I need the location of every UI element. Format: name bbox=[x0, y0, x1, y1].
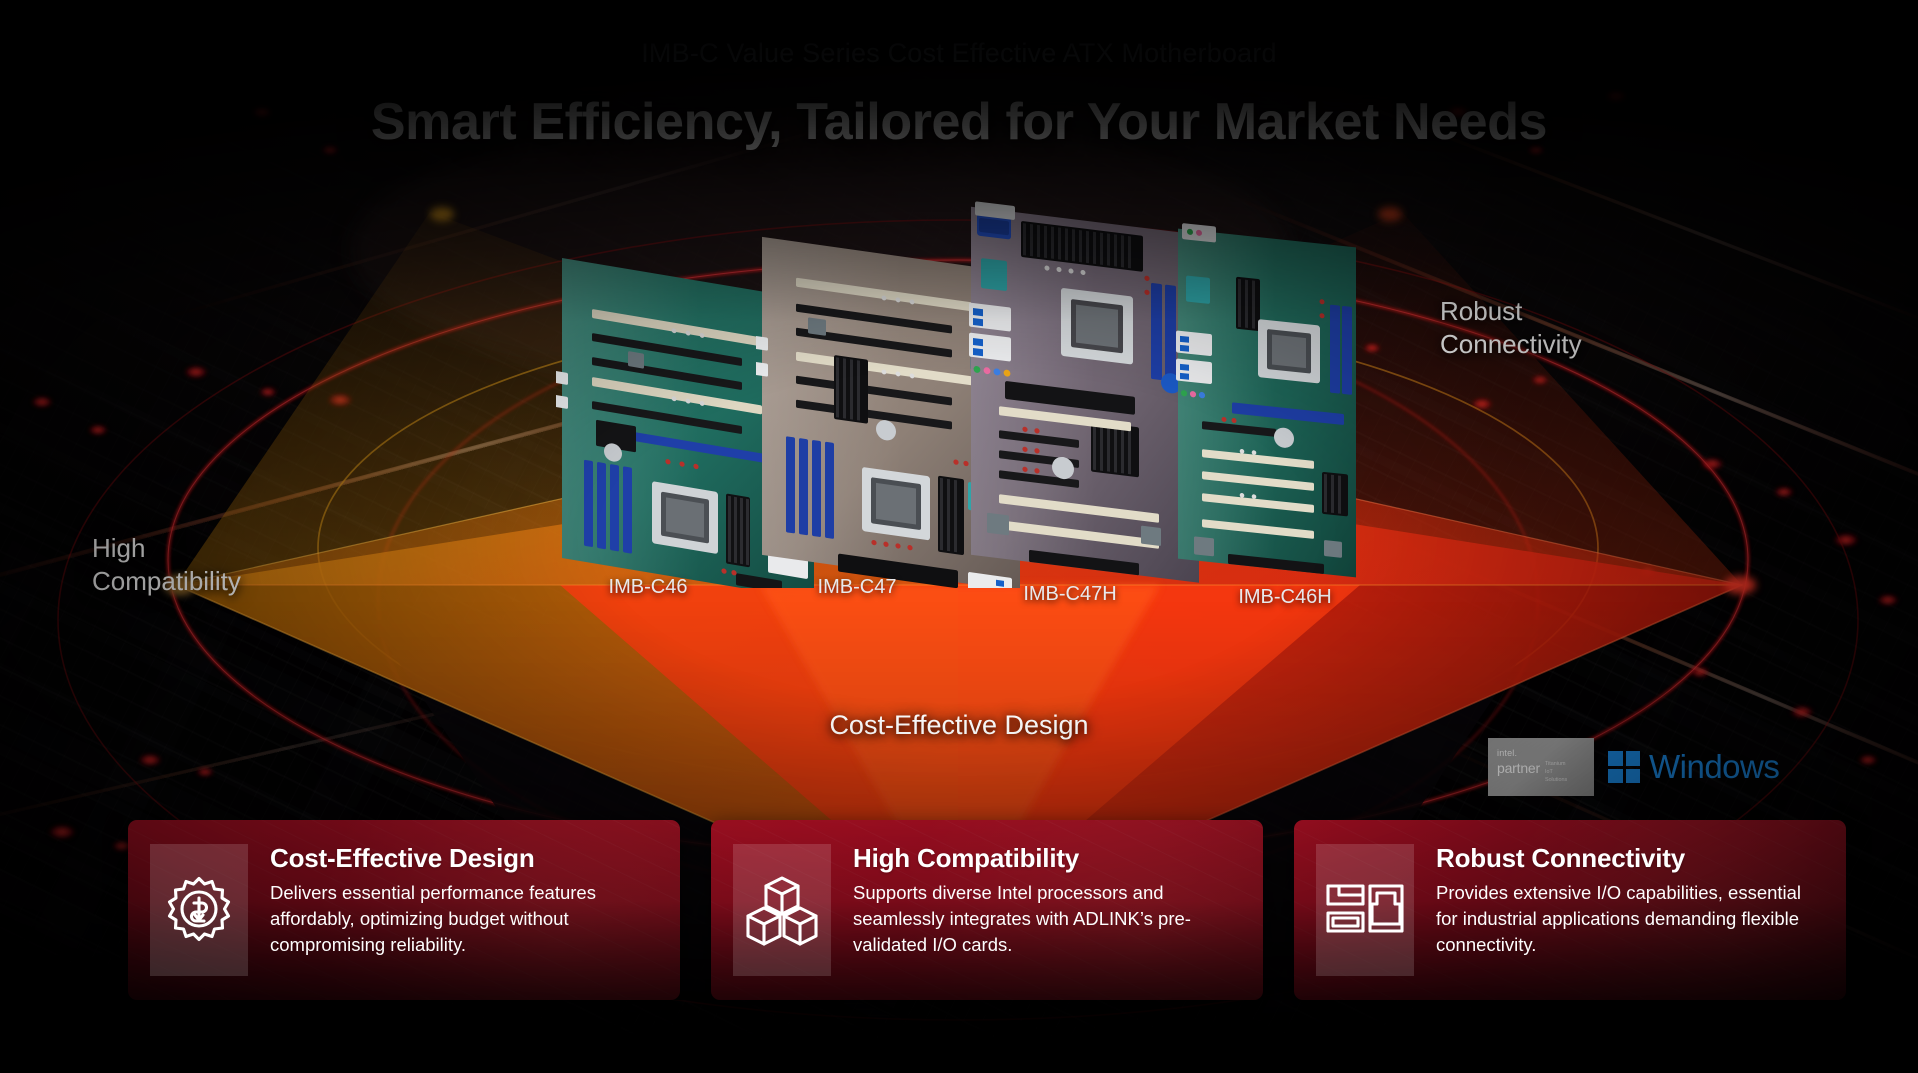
feature-card-description: Supports diverse Intel processors and se… bbox=[853, 880, 1241, 959]
intel-brand-text: intel. bbox=[1497, 749, 1594, 758]
intel-tier-line-3: Solutions bbox=[1545, 777, 1567, 785]
windows-label: Windows bbox=[1649, 748, 1779, 786]
feature-card-description: Provides extensive I/O capabilities, ess… bbox=[1436, 880, 1824, 959]
io-ports-icon bbox=[1316, 844, 1414, 976]
feature-card-description: Delivers essential performance features … bbox=[270, 880, 658, 959]
slide-canvas: IMB-C Value Series Cost Effective ATX Mo… bbox=[0, 0, 1918, 1073]
diagram-label-robust-connectivity: Robust Connectivity bbox=[1440, 295, 1582, 362]
stacked-cubes-icon bbox=[733, 844, 831, 976]
windows-logo: Windows bbox=[1608, 748, 1779, 786]
product-label-1: IMB-C47 bbox=[818, 576, 897, 599]
feature-card-high-compatibility[interactable]: High Compatibility Supports diverse Inte… bbox=[711, 820, 1263, 1000]
feature-card-title: Robust Connectivity bbox=[1436, 844, 1824, 874]
feature-card-title: Cost-Effective Design bbox=[270, 844, 658, 874]
feature-card-title: High Compatibility bbox=[853, 844, 1241, 874]
feature-cards: Cost-Effective Design Delivers essential… bbox=[128, 820, 1846, 1000]
product-label-2: IMB-C47H bbox=[1023, 583, 1116, 606]
feature-card-cost-effective-design[interactable]: Cost-Effective Design Delivers essential… bbox=[128, 820, 680, 1000]
product-label-0: IMB-C46 bbox=[609, 576, 688, 599]
intel-tier-line-1: Titanium bbox=[1545, 761, 1567, 769]
intel-tier-line-2: IoT bbox=[1545, 769, 1567, 777]
partner-logos: intel. partner Titanium IoT Solutions Wi… bbox=[1488, 738, 1779, 796]
intel-partner-logo: intel. partner Titanium IoT Solutions bbox=[1488, 738, 1594, 796]
windows-grid-icon bbox=[1608, 751, 1640, 783]
product-label-3: IMB-C46H bbox=[1238, 586, 1331, 609]
diagram-label-high-compatibility: High Compatibility bbox=[92, 532, 241, 599]
intel-partner-text: partner bbox=[1497, 761, 1540, 775]
feature-card-robust-connectivity[interactable]: Robust Connectivity Provides extensive I… bbox=[1294, 820, 1846, 1000]
product-image-imb-c46h bbox=[1172, 218, 1384, 586]
gear-dollar-icon bbox=[150, 844, 248, 976]
